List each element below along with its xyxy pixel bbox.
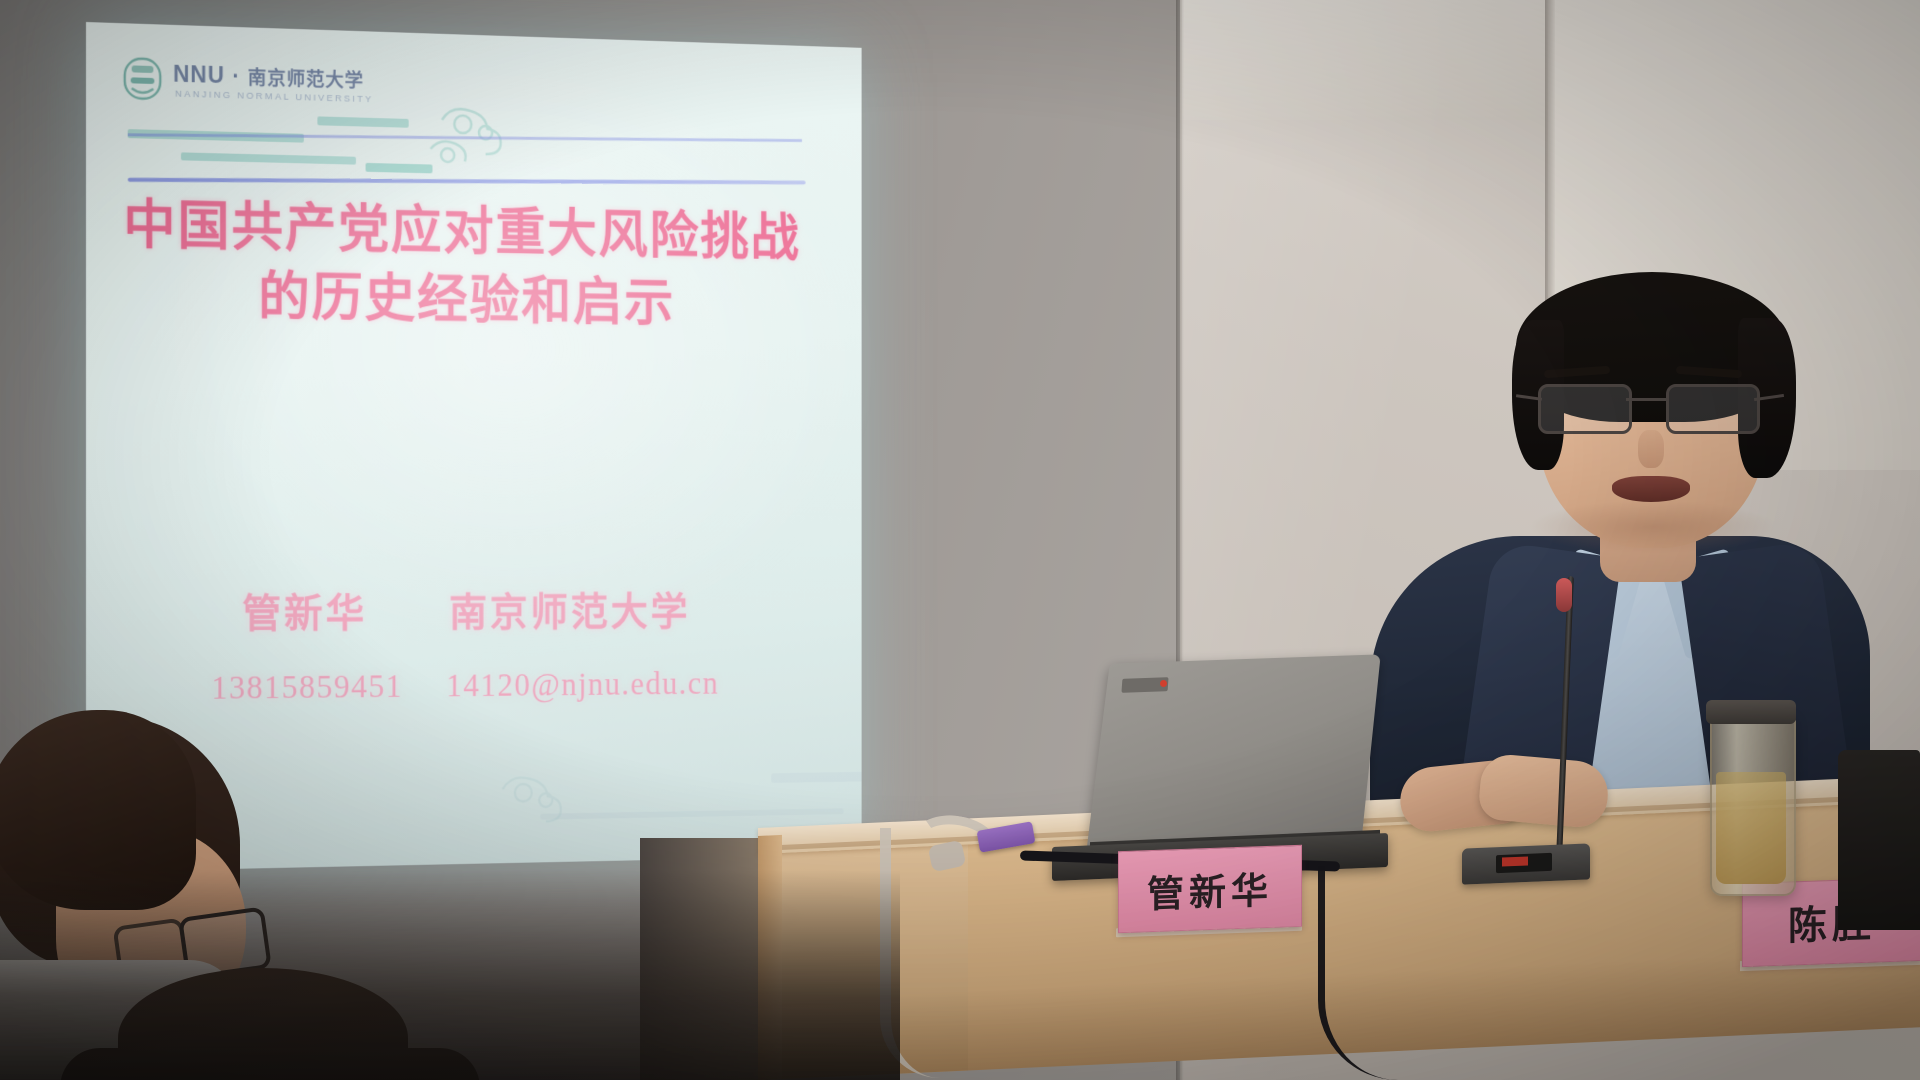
slide-header: NNU · 南京师范大学 NANJING NORMAL UNIVERSITY: [122, 49, 822, 185]
nnu-name-cn: 南京师范大学: [248, 68, 364, 92]
speaker-hand-right: [1477, 753, 1610, 830]
lens-right: [1666, 384, 1760, 434]
chair-icon: [1838, 750, 1920, 930]
cloud-ornament-icon: [413, 98, 527, 171]
slide-title: 中国共产党应对重大风险挑战 的历史经验和启示: [86, 190, 835, 340]
nnu-abbr-text: NNU: [173, 61, 225, 88]
teal-bar-3: [181, 152, 356, 164]
thinkpad-logo-dot-icon: [1160, 680, 1167, 687]
lecture-hall-scene: NNU · 南京师范大学 NANJING NORMAL UNIVERSITY: [0, 0, 1920, 1080]
institution-abbr: NNU · 南京师范大学: [173, 61, 364, 93]
thermos-lid: [1706, 700, 1796, 724]
thermos-tea-leaves: [1716, 772, 1786, 884]
slide-footer-mark-1: [771, 772, 861, 783]
presenter-line: 管新华 南京师范大学: [86, 580, 835, 640]
speaker-nose: [1638, 430, 1664, 468]
slide-title-line2: 的历史经验和启示: [86, 260, 835, 340]
cloud-ornament-footer-icon: [474, 767, 587, 839]
eyeglasses-icon: [1516, 384, 1788, 434]
speaker-chin-shadow: [1528, 500, 1778, 554]
projected-slide: NNU · 南京师范大学 NANJING NORMAL UNIVERSITY: [86, 22, 862, 872]
mic-head: [1556, 578, 1572, 612]
slide-title-line1: 中国共产党应对重大风险挑战: [86, 190, 835, 273]
teal-bar-2: [317, 116, 408, 127]
contact-phone: 13815859451: [211, 669, 403, 706]
speaker-mouth: [1612, 476, 1690, 502]
nnu-separator: ·: [232, 63, 240, 89]
nameplate-guan-xinhua: 管新华: [1118, 845, 1302, 933]
lens-left: [1538, 384, 1632, 434]
black-cable-drop: [1318, 866, 1565, 1080]
contact-email: 14120@njnu.edu.cn: [446, 667, 719, 704]
foreground-shadow: [0, 870, 900, 1080]
projection-screen: NNU · 南京师范大学 NANJING NORMAL UNIVERSITY: [86, 22, 906, 882]
glasses-bridge: [1626, 398, 1668, 401]
presenter-affiliation: 南京师范大学: [449, 590, 690, 636]
contact-line: 13815859451 14120@njnu.edu.cn: [86, 666, 835, 709]
nnu-seal-icon: [122, 55, 164, 102]
presenter-name: 管新华: [242, 591, 367, 637]
blue-rule-bottom: [128, 178, 806, 185]
